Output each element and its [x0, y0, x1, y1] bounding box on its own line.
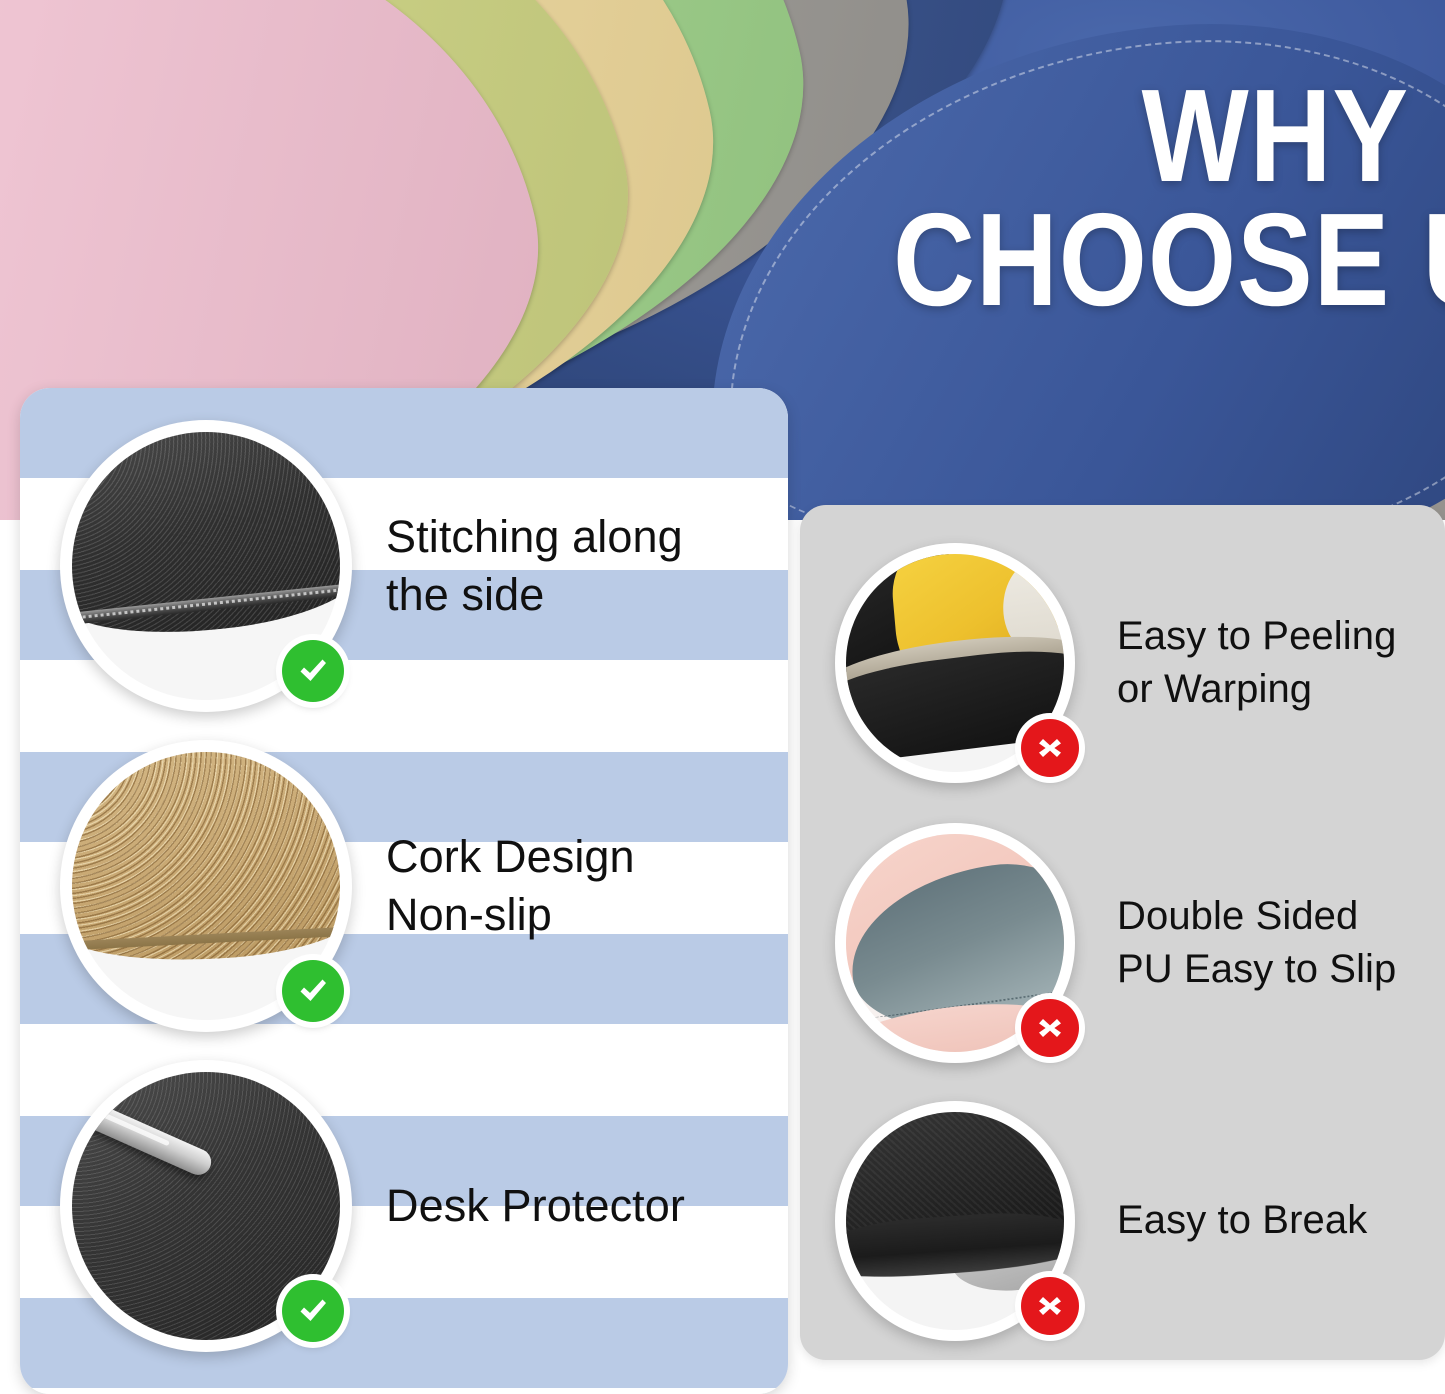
cons-item-peeling: Easy to Peeling or Warping — [835, 530, 1435, 795]
cons-item-break: Easy to Break — [835, 1088, 1435, 1353]
cross-icon — [1021, 719, 1079, 777]
stitched-edge-photo — [60, 420, 352, 712]
double-sided-pu-photo — [835, 823, 1075, 1063]
pros-item-stitching: Stitching along the side — [60, 416, 760, 716]
cross-icon — [1021, 999, 1079, 1057]
label-line: Easy to Break — [1117, 1194, 1367, 1247]
cons-panel: Easy to Peeling or Warping Double Sided — [800, 505, 1445, 1360]
why-choose-us-infographic: WHY CHOOSE US Easy — [0, 0, 1445, 1394]
cons-item-label: Easy to Break — [1117, 1194, 1367, 1247]
label-line: PU Easy to Slip — [1117, 943, 1396, 996]
pros-item-cork: Cork Design Non-slip — [60, 736, 760, 1036]
label-line: or Warping — [1117, 663, 1396, 716]
peeling-warping-photo — [835, 543, 1075, 783]
check-icon — [282, 960, 344, 1022]
label-line: Cork Design — [386, 828, 635, 887]
pros-item-label: Desk Protector — [386, 1177, 685, 1236]
cons-item-double-sided: Double Sided PU Easy to Slip — [835, 810, 1435, 1075]
stitch-line — [0, 0, 430, 53]
label-line: the side — [386, 566, 683, 625]
check-icon — [282, 640, 344, 702]
metal-tool-shape — [78, 1098, 216, 1178]
page-title: WHY CHOOSE US — [893, 74, 1409, 322]
pros-panel: Stitching along the side Cork Design Non… — [20, 388, 788, 1394]
label-line: Easy to Peeling — [1117, 610, 1396, 663]
cons-item-label: Double Sided PU Easy to Slip — [1117, 890, 1396, 996]
cork-backing-photo — [60, 740, 352, 1032]
label-line: Non-slip — [386, 886, 635, 945]
check-icon — [282, 1280, 344, 1342]
broken-mat-photo — [835, 1101, 1075, 1341]
pros-item-label: Stitching along the side — [386, 508, 683, 625]
label-line: Double Sided — [1117, 890, 1396, 943]
title-line-1: WHY — [893, 74, 1409, 198]
title-line-2: CHOOSE US — [893, 198, 1409, 322]
label-line: Desk Protector — [386, 1177, 685, 1236]
pros-item-protector: Desk Protector — [60, 1056, 760, 1356]
cross-icon — [1021, 1277, 1079, 1335]
desk-protector-photo — [60, 1060, 352, 1352]
cons-item-label: Easy to Peeling or Warping — [1117, 610, 1396, 716]
label-line: Stitching along — [386, 508, 683, 567]
pros-item-label: Cork Design Non-slip — [386, 828, 635, 945]
